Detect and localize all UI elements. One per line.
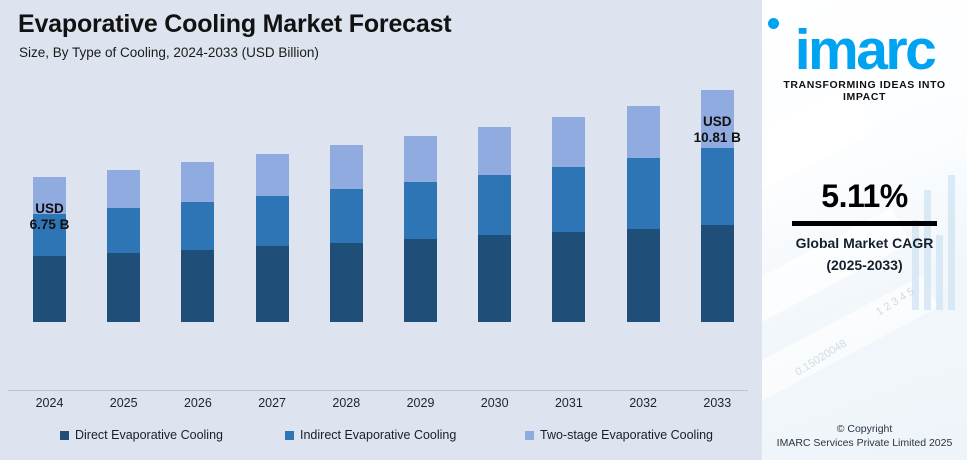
bar-segment[interactable] xyxy=(552,167,585,233)
bar-group[interactable] xyxy=(107,170,140,322)
legend-label: Two-stage Evaporative Cooling xyxy=(540,428,713,442)
x-axis-tick-2027: 2027 xyxy=(235,396,309,410)
cagr-value: 5.11% xyxy=(762,178,967,215)
bar-value-label: USD6.75 B xyxy=(4,201,96,233)
bar-segment[interactable] xyxy=(181,250,214,322)
x-axis-tick-2028: 2028 xyxy=(309,396,383,410)
bar-segment[interactable] xyxy=(404,239,437,322)
legend-swatch-icon xyxy=(525,431,534,440)
bar-segment[interactable] xyxy=(181,202,214,250)
bar-group[interactable] xyxy=(552,117,585,322)
bar-segment[interactable] xyxy=(330,145,363,189)
bar-segment[interactable] xyxy=(478,175,511,235)
cagr-caption-line-1: Global Market CAGR xyxy=(762,232,967,254)
bar-group[interactable] xyxy=(256,154,289,322)
copyright-line-1: © Copyright xyxy=(762,422,967,436)
bar-segment[interactable] xyxy=(256,196,289,247)
bar-segment[interactable] xyxy=(256,246,289,322)
bar-segment[interactable] xyxy=(404,182,437,239)
bar-segment[interactable] xyxy=(552,117,585,167)
logo-tagline: TRANSFORMING IDEAS INTO IMPACT xyxy=(762,79,967,103)
bar-segment[interactable] xyxy=(107,208,140,253)
bar-segment[interactable] xyxy=(33,256,66,322)
bar-segment[interactable] xyxy=(181,162,214,202)
bar-value-currency: USD xyxy=(671,114,763,130)
plot-area xyxy=(0,0,762,392)
legend-item-2[interactable]: Indirect Evaporative Cooling xyxy=(285,428,456,442)
logo-dot-icon xyxy=(768,18,779,29)
legend-label: Indirect Evaporative Cooling xyxy=(300,428,456,442)
x-axis-tick-2032: 2032 xyxy=(606,396,680,410)
bar-value-amount: 6.75 B xyxy=(4,217,96,233)
x-axis-line xyxy=(8,390,748,391)
legend-swatch-icon xyxy=(60,431,69,440)
x-axis-tick-2024: 2024 xyxy=(13,396,87,410)
bar-value-amount: 10.81 B xyxy=(671,130,763,146)
bar-segment[interactable] xyxy=(330,189,363,243)
cagr-divider xyxy=(792,221,937,226)
copyright-line-2: IMARC Services Private Limited 2025 xyxy=(762,436,967,450)
legend-item-1[interactable]: Direct Evaporative Cooling xyxy=(60,428,223,442)
bar-segment[interactable] xyxy=(478,127,511,175)
x-axis-tick-2030: 2030 xyxy=(458,396,532,410)
bar-segment[interactable] xyxy=(627,106,660,157)
cagr-caption-line-2: (2025-2033) xyxy=(762,254,967,276)
chart-panel: Evaporative Cooling Market Forecast Size… xyxy=(0,0,762,460)
bar-group[interactable] xyxy=(404,136,437,322)
bar-segment[interactable] xyxy=(552,232,585,322)
bar-segment[interactable] xyxy=(478,235,511,322)
bar-value-label: USD10.81 B xyxy=(671,114,763,146)
bar-segment[interactable] xyxy=(701,148,734,224)
logo-wordmark: imarc xyxy=(795,22,935,78)
chart-legend: Direct Evaporative CoolingIndirect Evapo… xyxy=(0,428,762,452)
legend-item-3[interactable]: Two-stage Evaporative Cooling xyxy=(525,428,713,442)
cagr-caption: Global Market CAGR (2025-2033) xyxy=(762,232,967,276)
background-watermark-number-2: 0.15020048 xyxy=(793,338,849,379)
bar-segment[interactable] xyxy=(404,136,437,182)
bar-segment[interactable] xyxy=(107,170,140,208)
bar-value-currency: USD xyxy=(4,201,96,217)
bar-group[interactable] xyxy=(478,127,511,322)
bar-group[interactable] xyxy=(181,162,214,322)
x-axis-tick-2029: 2029 xyxy=(384,396,458,410)
imarc-logo: imarc TRANSFORMING IDEAS INTO IMPACT xyxy=(762,22,967,103)
bar-segment[interactable] xyxy=(107,253,140,322)
x-axis-tick-2025: 2025 xyxy=(87,396,161,410)
bar-group[interactable] xyxy=(627,106,660,322)
bar-segment[interactable] xyxy=(701,225,734,322)
bar-segment[interactable] xyxy=(330,243,363,322)
legend-label: Direct Evaporative Cooling xyxy=(75,428,223,442)
legend-swatch-icon xyxy=(285,431,294,440)
bar-group[interactable] xyxy=(33,177,66,322)
brand-panel: 1 2 3 4 5 0.15020048 imarc TRANSFORMING … xyxy=(762,0,967,460)
x-axis-tick-2031: 2031 xyxy=(532,396,606,410)
bar-segment[interactable] xyxy=(627,158,660,230)
background-watermark-number-1: 1 2 3 4 5 xyxy=(874,286,917,319)
bar-segment[interactable] xyxy=(256,154,289,196)
bar-segment[interactable] xyxy=(627,229,660,322)
x-axis-tick-2026: 2026 xyxy=(161,396,235,410)
copyright-notice: © Copyright IMARC Services Private Limit… xyxy=(762,422,967,450)
bar-group[interactable] xyxy=(330,145,363,322)
x-axis-tick-2033: 2033 xyxy=(680,396,754,410)
infographic-root: Evaporative Cooling Market Forecast Size… xyxy=(0,0,967,460)
